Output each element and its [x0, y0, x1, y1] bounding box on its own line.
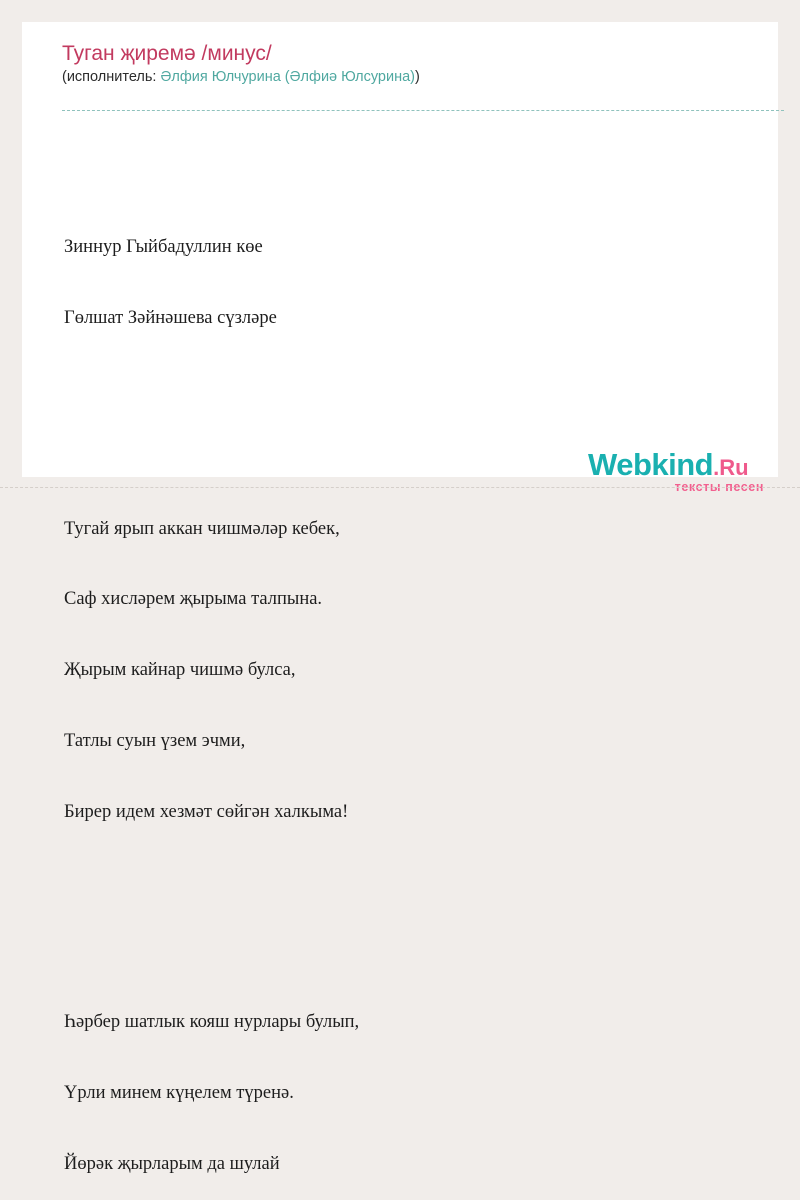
artist-link[interactable]: Әлфия Юлчурина (Әлфиә Юлсурина)	[160, 69, 415, 85]
logo-brand-text: Webkind	[588, 447, 713, 482]
logo-wordmark: Webkind.Ru	[588, 448, 788, 484]
lyric-line: Һәрбер шатлык кояш нурлары булып,	[64, 1011, 764, 1035]
artist-prefix-label: (исполнитель:	[62, 69, 160, 85]
lyrics-body: Зиннур Гыйбадуллин көе Гөлшат Зәйнәшева …	[64, 118, 764, 1200]
lyric-line: Үрли минем күңелем түренә.	[64, 1082, 764, 1106]
lyric-line: Йөрәк җырларым да шулай	[64, 1153, 764, 1177]
artist-suffix-label: )	[415, 69, 420, 85]
lyric-line: Зиннур Гыйбадуллин көе	[64, 236, 764, 260]
lyric-line: Гөлшат Зәйнәшева сүзләре	[64, 307, 764, 331]
lyric-line: Саф хисләрем җырыма талпына.	[64, 588, 764, 612]
card-bottom-divider	[0, 487, 800, 488]
lyric-block: Һәрбер шатлык кояш нурлары булып, Үрли м…	[64, 964, 764, 1200]
lyric-block: Зиннур Гыйбадуллин көе Гөлшат Зәйнәшева …	[64, 189, 764, 378]
page-title: Туган җиремә /минус/	[62, 40, 800, 67]
header-divider	[62, 110, 784, 111]
lyric-line: Татлы суын үзем эчми,	[64, 730, 764, 754]
lyric-line: Бирер идем хезмәт сөйгән халкыма!	[64, 801, 764, 825]
song-card: Туган җиремә /минус/ (исполнитель: Әлфия…	[22, 22, 778, 477]
lyric-line: Тугай ярып аккан чишмәләр кебек,	[64, 518, 764, 542]
song-header: Туган җиремә /минус/ (исполнитель: Әлфия…	[62, 40, 800, 90]
logo-tld-text: .Ru	[713, 455, 748, 480]
site-logo[interactable]: Webkind.Ru тексты песен	[588, 448, 788, 496]
lyric-block: Тугай ярып аккан чишмәләр кебек, Саф хис…	[64, 470, 764, 871]
lyric-line: Җырым кайнар чишмә булса,	[64, 659, 764, 683]
artist-line: (исполнитель: Әлфия Юлчурина (Әлфиә Юлсу…	[62, 67, 800, 90]
